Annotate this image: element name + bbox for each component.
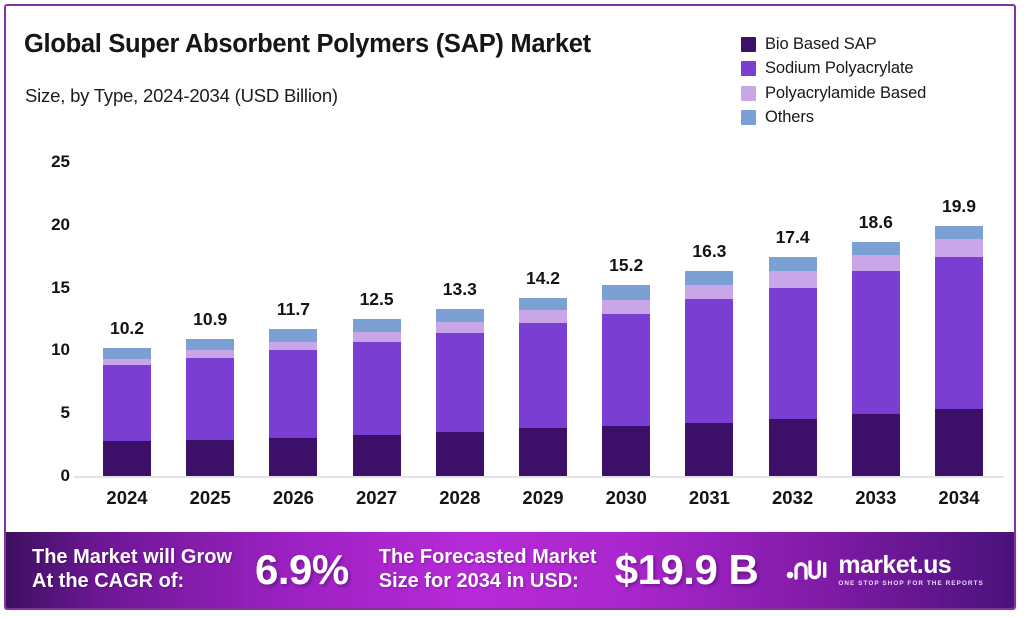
- bar-segment[interactable]: [519, 323, 567, 429]
- forecast-label-line2: Size for 2034 in USD:: [379, 570, 611, 594]
- bar-segment[interactable]: [103, 359, 151, 366]
- bar-segment[interactable]: [186, 358, 234, 440]
- x-axis-tick-label: 2032: [750, 487, 836, 509]
- bar-segment[interactable]: [935, 409, 983, 476]
- bar-value-label: 12.5: [360, 289, 394, 310]
- bar-segment[interactable]: [186, 440, 234, 476]
- x-axis-tick-label: 2034: [916, 487, 1002, 509]
- bar-stack[interactable]: [436, 309, 484, 476]
- x-axis-tick-label: 2028: [417, 487, 503, 509]
- cagr-label-line1: The Market will Grow: [32, 546, 247, 570]
- bar-stack[interactable]: [103, 348, 151, 476]
- x-axis-baseline: [74, 476, 1004, 478]
- bar-segment[interactable]: [436, 322, 484, 333]
- bar-segment[interactable]: [353, 435, 401, 476]
- bar-segment[interactable]: [186, 339, 234, 350]
- bar-segment[interactable]: [103, 348, 151, 359]
- bar-segment[interactable]: [269, 438, 317, 476]
- y-axis-tick-label: 15: [24, 278, 70, 298]
- bar-stack[interactable]: [935, 226, 983, 476]
- bar-segment[interactable]: [769, 419, 817, 476]
- bar-stack[interactable]: [685, 271, 733, 476]
- cagr-value: 6.9%: [255, 546, 349, 594]
- logo-text: market.us ONE STOP SHOP FOR THE REPORTS: [838, 553, 984, 587]
- bar-stack[interactable]: [519, 298, 567, 476]
- bar-segment[interactable]: [519, 310, 567, 323]
- bar-segment[interactable]: [186, 350, 234, 358]
- bar-segment[interactable]: [519, 298, 567, 311]
- bar-segment[interactable]: [353, 319, 401, 332]
- bar-segment[interactable]: [852, 255, 900, 271]
- bar-segment[interactable]: [103, 365, 151, 440]
- x-axis-tick-label: 2026: [250, 487, 336, 509]
- bar-segment[interactable]: [436, 333, 484, 432]
- bar-segment[interactable]: [436, 309, 484, 322]
- bar-segment[interactable]: [685, 423, 733, 476]
- bar-value-label: 13.3: [443, 279, 477, 300]
- x-axis-tick-label: 2027: [334, 487, 420, 509]
- bar-segment[interactable]: [602, 314, 650, 426]
- bar-value-label: 11.7: [277, 299, 310, 320]
- market-us-logo: market.us ONE STOP SHOP FOR THE REPORTS: [786, 553, 984, 587]
- bar-stack[interactable]: [852, 242, 900, 476]
- bar-segment[interactable]: [269, 329, 317, 342]
- y-axis-tick-label: 10: [24, 340, 70, 360]
- bar-segment[interactable]: [103, 441, 151, 476]
- logo-name: market.us: [838, 553, 984, 578]
- y-axis-tick-label: 25: [24, 152, 70, 172]
- bar-segment[interactable]: [269, 342, 317, 351]
- summary-banner: The Market will Grow At the CAGR of: 6.9…: [6, 532, 1016, 608]
- y-axis-tick-label: 20: [24, 215, 70, 235]
- bar-value-label: 17.4: [776, 227, 810, 248]
- bar-stack[interactable]: [353, 319, 401, 476]
- y-axis-tick-label: 0: [24, 466, 70, 486]
- bar-segment[interactable]: [852, 414, 900, 476]
- bar-segment[interactable]: [436, 432, 484, 476]
- x-axis-tick-label: 2025: [167, 487, 253, 509]
- bar-segment[interactable]: [685, 271, 733, 285]
- cagr-label-line2: At the CAGR of:: [32, 570, 247, 594]
- bar-value-label: 19.9: [942, 196, 976, 217]
- x-axis-tick-label: 2031: [666, 487, 752, 509]
- forecast-label-line1: The Forecasted Market: [379, 546, 611, 570]
- bar-segment[interactable]: [353, 332, 401, 342]
- bar-segment[interactable]: [935, 226, 983, 239]
- bar-stack[interactable]: [769, 257, 817, 476]
- bar-segment[interactable]: [602, 285, 650, 300]
- bar-stack[interactable]: [269, 329, 317, 476]
- bar-value-label: 18.6: [859, 212, 893, 233]
- y-axis-tick-label: 5: [24, 403, 70, 423]
- bar-segment[interactable]: [353, 342, 401, 435]
- chart-plot-area: 0510152025 10.2202410.9202511.7202612.52…: [6, 6, 1016, 526]
- bar-segment[interactable]: [602, 426, 650, 476]
- x-axis-tick-label: 2033: [833, 487, 919, 509]
- bar-segment[interactable]: [852, 271, 900, 414]
- bar-value-label: 10.2: [110, 318, 144, 339]
- bar-segment[interactable]: [269, 350, 317, 438]
- bar-segment[interactable]: [852, 242, 900, 255]
- x-axis-tick-label: 2024: [84, 487, 170, 509]
- bar-segment[interactable]: [935, 257, 983, 409]
- bar-stack[interactable]: [602, 285, 650, 476]
- y-axis: 0510152025: [24, 6, 70, 526]
- bar-segment[interactable]: [602, 300, 650, 314]
- bar-stack[interactable]: [186, 339, 234, 476]
- x-axis-tick-label: 2029: [500, 487, 586, 509]
- bar-segment[interactable]: [519, 428, 567, 476]
- bar-value-label: 14.2: [526, 268, 560, 289]
- logo-tagline: ONE STOP SHOP FOR THE REPORTS: [838, 581, 984, 587]
- chart-card: Global Super Absorbent Polymers (SAP) Ma…: [4, 4, 1016, 610]
- bar-segment[interactable]: [685, 299, 733, 423]
- bar-segment[interactable]: [769, 257, 817, 271]
- logo-mark-icon: [786, 554, 830, 586]
- bar-value-label: 16.3: [692, 241, 726, 262]
- x-axis-tick-label: 2030: [583, 487, 669, 509]
- bar-segment[interactable]: [769, 271, 817, 287]
- bar-value-label: 10.9: [193, 309, 227, 330]
- bar-segment[interactable]: [769, 288, 817, 420]
- bar-segment[interactable]: [935, 239, 983, 257]
- bar-segment[interactable]: [685, 285, 733, 299]
- forecast-value: $19.9 B: [615, 546, 759, 594]
- bar-value-label: 15.2: [609, 255, 643, 276]
